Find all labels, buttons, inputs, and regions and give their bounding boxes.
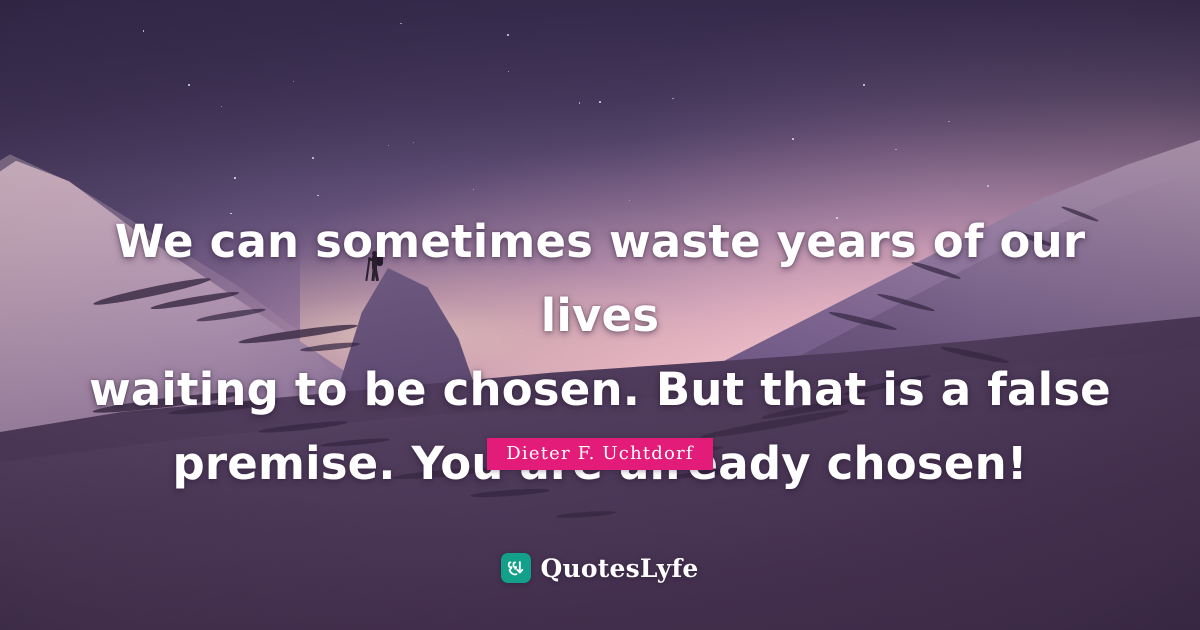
card-content: We can sometimes waste years of our live… [0,0,1200,630]
brand-name: QuotesLyfe [540,554,698,583]
author-row: Dieter F. Uchtdorf [0,438,1200,470]
author-badge: Dieter F. Uchtdorf [487,438,713,470]
quote-smiley-icon [501,553,531,583]
quote-card: We can sometimes waste years of our live… [0,0,1200,630]
brand-footer[interactable]: QuotesLyfe [0,553,1200,583]
